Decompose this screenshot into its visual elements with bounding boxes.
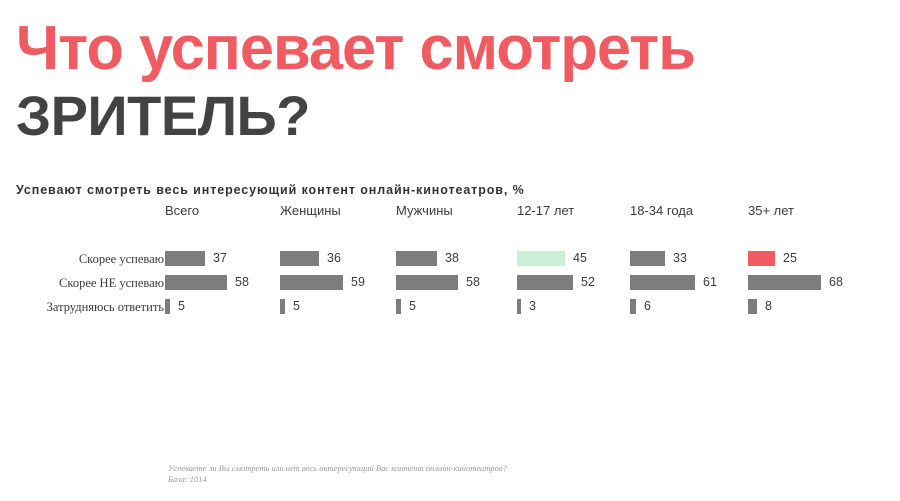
bar bbox=[165, 251, 205, 266]
footnote-question: Успеваете ли Вы смотреть или нет весь ин… bbox=[168, 463, 507, 474]
bar-value: 5 bbox=[178, 299, 185, 314]
column-header: 35+ лет bbox=[748, 203, 794, 218]
bar-value: 33 bbox=[673, 251, 687, 266]
chart-rows: Скорее успеваю373638453325Скорее НЕ успе… bbox=[0, 225, 900, 325]
bar-value: 6 bbox=[644, 299, 651, 314]
bar bbox=[280, 299, 285, 314]
footnote-base: База: 1014 bbox=[168, 474, 507, 485]
row-label: Затрудняюсь ответить bbox=[0, 300, 164, 315]
bar-value: 3 bbox=[529, 299, 536, 314]
bar-value: 59 bbox=[351, 275, 365, 290]
bar bbox=[517, 251, 565, 266]
page-title: Что успевает смотреть ЗРИТЕЛЬ? bbox=[16, 18, 896, 146]
bar bbox=[517, 299, 521, 314]
column-header: Мужчины bbox=[396, 203, 453, 218]
bar bbox=[280, 275, 343, 290]
chart-row: Скорее НЕ успеваю585958526168 bbox=[0, 273, 900, 295]
bar-value: 58 bbox=[466, 275, 480, 290]
bar-value: 68 bbox=[829, 275, 843, 290]
column-headers: ВсегоЖенщиныМужчины12-17 лет18-34 года35… bbox=[0, 203, 900, 225]
column-header: Всего bbox=[165, 203, 199, 218]
footnote: Успеваете ли Вы смотреть или нет весь ин… bbox=[168, 463, 507, 485]
bar bbox=[165, 299, 170, 314]
bar bbox=[748, 275, 821, 290]
bar-value: 38 bbox=[445, 251, 459, 266]
bar bbox=[630, 251, 665, 266]
bar bbox=[748, 251, 775, 266]
bar-chart: ВсегоЖенщиныМужчины12-17 лет18-34 года35… bbox=[0, 203, 900, 325]
bar-value: 37 bbox=[213, 251, 227, 266]
bar-value: 45 bbox=[573, 251, 587, 266]
bar-value: 52 bbox=[581, 275, 595, 290]
chart-row: Скорее успеваю373638453325 bbox=[0, 249, 900, 271]
bar-value: 5 bbox=[293, 299, 300, 314]
chart-subtitle: Успевают смотреть весь интересующий конт… bbox=[16, 183, 525, 197]
bar-value: 25 bbox=[783, 251, 797, 266]
chart-row: Затрудняюсь ответить555368 bbox=[0, 297, 900, 319]
bar bbox=[396, 251, 437, 266]
bar bbox=[165, 275, 227, 290]
page-title-line-2: ЗРИТЕЛЬ? bbox=[16, 86, 896, 146]
bar-value: 8 bbox=[765, 299, 772, 314]
bar bbox=[748, 299, 757, 314]
bar-value: 61 bbox=[703, 275, 717, 290]
bar-value: 36 bbox=[327, 251, 341, 266]
column-header: Женщины bbox=[280, 203, 341, 218]
column-header: 12-17 лет bbox=[517, 203, 574, 218]
row-label: Скорее НЕ успеваю bbox=[0, 276, 164, 291]
bar-value: 5 bbox=[409, 299, 416, 314]
bar-value: 58 bbox=[235, 275, 249, 290]
bar bbox=[517, 275, 573, 290]
page-title-line-1: Что успевает смотреть bbox=[16, 18, 887, 80]
bar bbox=[396, 275, 458, 290]
bar bbox=[630, 275, 695, 290]
bar bbox=[280, 251, 319, 266]
bar bbox=[630, 299, 636, 314]
bar bbox=[396, 299, 401, 314]
row-label: Скорее успеваю bbox=[0, 252, 164, 267]
column-header: 18-34 года bbox=[630, 203, 693, 218]
